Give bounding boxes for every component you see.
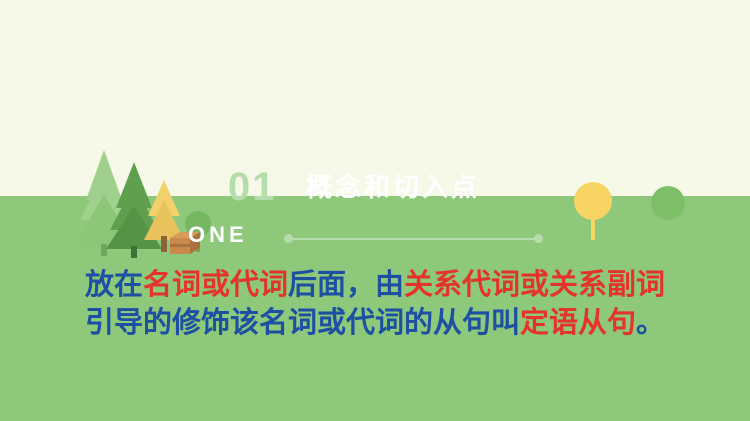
definition-keyword: 定语从句 bbox=[520, 307, 636, 339]
section-headline: 01 概念和切入点 bbox=[228, 165, 658, 227]
definition-plain: 后面，由 bbox=[288, 269, 404, 301]
definition-line-1: 放在名词或代词后面，由关系代词或关系副词 bbox=[0, 266, 750, 304]
section-number: 01 bbox=[228, 165, 277, 209]
rule-dot-right bbox=[534, 234, 543, 243]
definition-keyword: 名词或代词 bbox=[143, 269, 288, 301]
definition-text: 放在名词或代词后面，由关系代词或关系副词 引导的修饰该名词或代词的从句叫定语从句… bbox=[0, 266, 750, 342]
definition-keyword: 关系代词或关系副词 bbox=[404, 269, 665, 301]
definition-plain: 。 bbox=[636, 307, 665, 339]
section-number-word: ONE bbox=[188, 222, 248, 248]
section-title: 概念和切入点 bbox=[306, 171, 480, 203]
definition-plain: 放在 bbox=[85, 269, 143, 301]
slide-canvas: 01 概念和切入点 ONE 放在名词或代词后面，由关系代词或关系副词 引导的修饰… bbox=[0, 0, 750, 421]
headline-rule bbox=[290, 238, 538, 240]
definition-line-2: 引导的修饰该名词或代词的从句叫定语从句。 bbox=[0, 304, 750, 342]
definition-plain: 引导的修饰该名词或代词的从句叫 bbox=[85, 307, 520, 339]
